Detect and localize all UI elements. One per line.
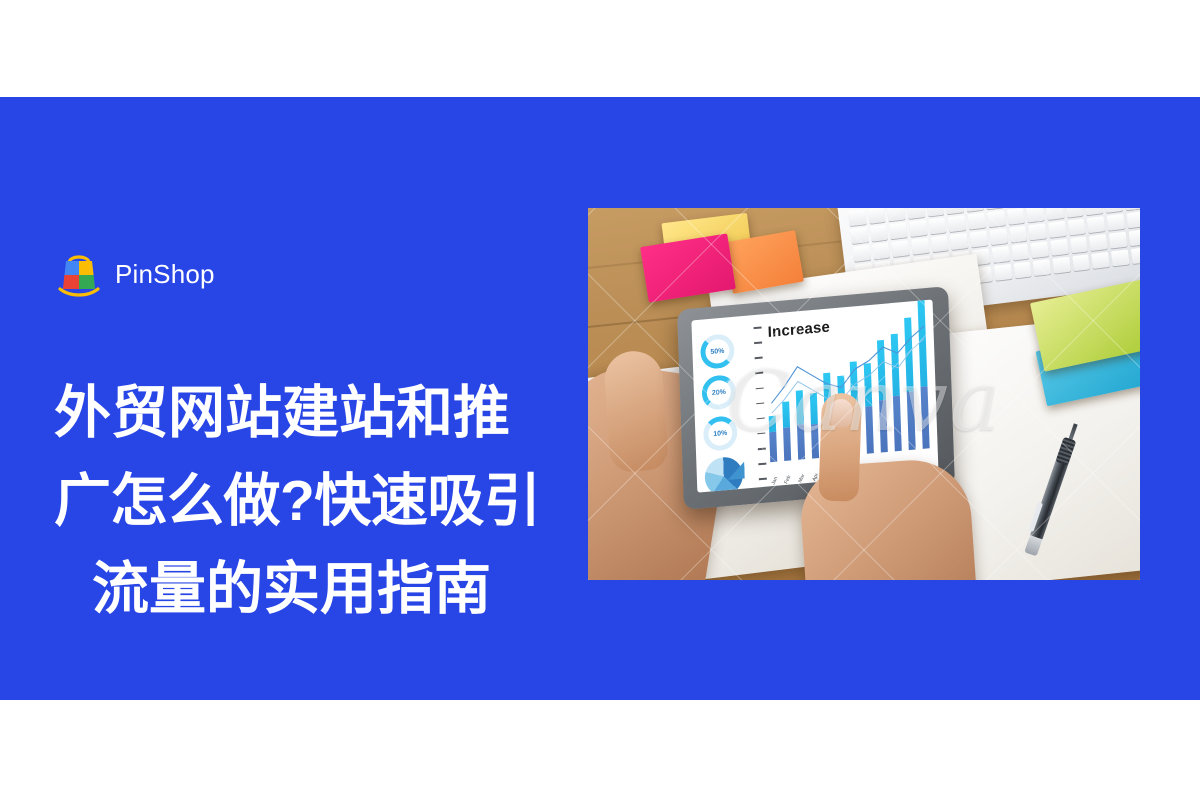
blue-banner-panel: PinShop 外贸网站建站和推 广怎么做?快速吸引 流量的实用指南 MORE … [0,97,1200,700]
gauge-20: 20% [701,374,736,411]
y-axis-ticks [754,326,768,492]
page-title: 外贸网站建站和推 广怎么做?快速吸引 流量的实用指南 [54,369,574,633]
brand-lockup[interactable]: PinShop [56,249,215,299]
gauge-group: 50% 20% 10% [700,332,753,493]
gauge-10: 10% [703,415,738,452]
headline-line-2: 广怎么做?快速吸引 [54,457,574,545]
poster-canvas: PinShop 外贸网站建站和推 广怎么做?快速吸引 流量的实用指南 MORE … [0,0,1200,800]
pie-chart [704,456,743,493]
headline-line-1: 外贸网站建站和推 [54,369,574,457]
gauge-50: 50% [700,333,735,370]
hero-photo: Increase 50% 20% 10% [588,208,1140,580]
brand-name: PinShop [115,259,215,290]
headline-line-3: 流量的实用指南 [54,545,574,633]
shopping-bag-icon [56,249,102,299]
